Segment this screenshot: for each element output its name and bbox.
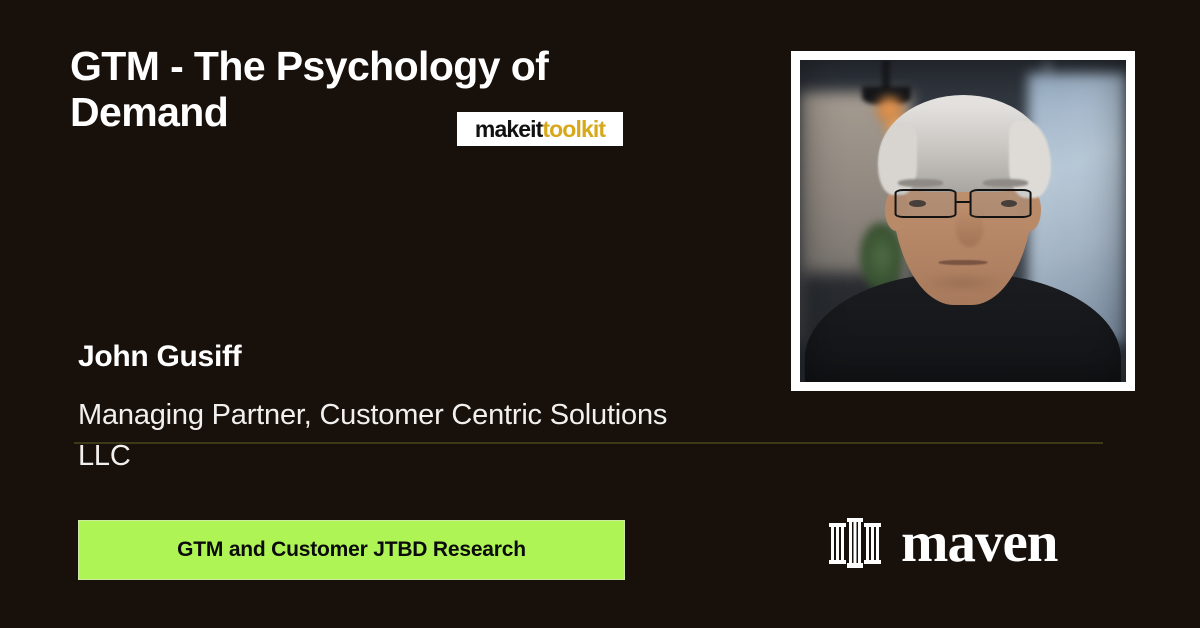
person-nose xyxy=(956,211,982,246)
speaker-portrait-frame xyxy=(791,51,1135,391)
person-eyebrow-left xyxy=(898,179,944,187)
topic-tag-label: GTM and Customer JTBD Research xyxy=(177,538,526,562)
speaker-role: Managing Partner, Customer Centric Solut… xyxy=(78,395,698,477)
brand-badge-toolkit-text: toolkit xyxy=(542,118,605,141)
course-promo-card: GTM - The Psychology of Demand makeittoo… xyxy=(0,0,1200,628)
horizontal-divider xyxy=(74,442,1103,444)
topic-tag-button[interactable]: GTM and Customer JTBD Research xyxy=(78,520,625,580)
maven-logo: maven xyxy=(827,514,1057,571)
person-chin-shadow xyxy=(921,273,1006,292)
eyeglasses-lens-left xyxy=(895,189,957,218)
speaker-block: John Gusiff Managing Partner, Customer C… xyxy=(78,340,698,477)
speaker-portrait-photo xyxy=(800,60,1126,382)
eyeglasses-bridge xyxy=(956,201,970,204)
person-eyebrow-right xyxy=(983,179,1029,187)
columns-icon xyxy=(827,515,883,571)
portrait-person xyxy=(800,60,1126,382)
person-mouth xyxy=(939,260,988,265)
speaker-name: John Gusiff xyxy=(78,340,698,373)
brand-badge-makeittoolkit: makeittoolkit xyxy=(457,112,623,146)
brand-badge-make-text: makeit xyxy=(475,118,542,141)
maven-wordmark: maven xyxy=(901,514,1057,571)
